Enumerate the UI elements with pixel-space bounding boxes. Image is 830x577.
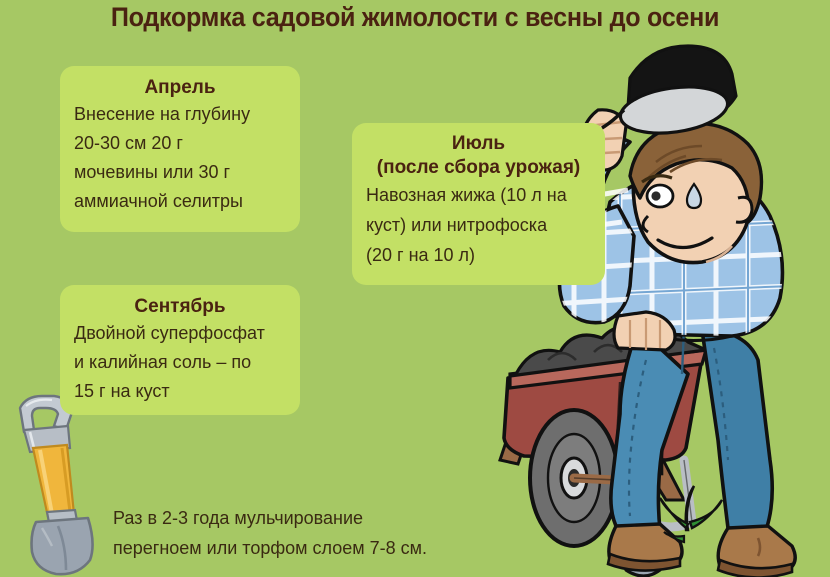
box-line: (20 г на 10 л): [366, 240, 591, 270]
infographic-poster: Подкормка садовой жимолости с весны до о…: [0, 0, 830, 577]
info-box-july: Июль (после сбора урожая) Навозная жижа …: [352, 123, 605, 285]
footer-note: Раз в 2-3 года мульчирование перегноем и…: [113, 503, 533, 563]
box-line: 15 г на куст: [74, 377, 286, 406]
box-line: мочевины или 30 г: [74, 158, 286, 187]
box-heading-september: Сентябрь: [74, 294, 286, 319]
box-line: Навозная жижа (10 л на: [366, 180, 591, 210]
box-heading-july: Июль: [366, 132, 591, 156]
box-line: и калийная соль – по: [74, 348, 286, 377]
box-heading-april: Апрель: [74, 75, 286, 100]
box-line: куст) или нитрофоска: [366, 210, 591, 240]
gardener-icon: [470, 30, 830, 577]
info-box-september: Сентябрь Двойной суперфосфат и калийная …: [60, 285, 300, 415]
footer-line: Раз в 2-3 года мульчирование: [113, 503, 533, 533]
box-subheading-july: (после сбора урожая): [366, 156, 591, 180]
box-body-september: Двойной суперфосфат и калийная соль – по…: [74, 319, 286, 406]
page-title: Подкормка садовой жимолости с весны до о…: [29, 2, 801, 33]
box-line: Двойной суперфосфат: [74, 319, 286, 348]
box-line: Внесение на глубину: [74, 100, 286, 129]
box-line: 20-30 см 20 г: [74, 129, 286, 158]
box-line: аммиачной селитры: [74, 187, 286, 216]
box-body-april: Внесение на глубину 20-30 см 20 г мочеви…: [74, 100, 286, 216]
box-body-july: Навозная жижа (10 л на куст) или нитрофо…: [366, 180, 591, 270]
info-box-april: Апрель Внесение на глубину 20-30 см 20 г…: [60, 66, 300, 232]
footer-line: перегноем или торфом слоем 7-8 см.: [113, 533, 533, 563]
